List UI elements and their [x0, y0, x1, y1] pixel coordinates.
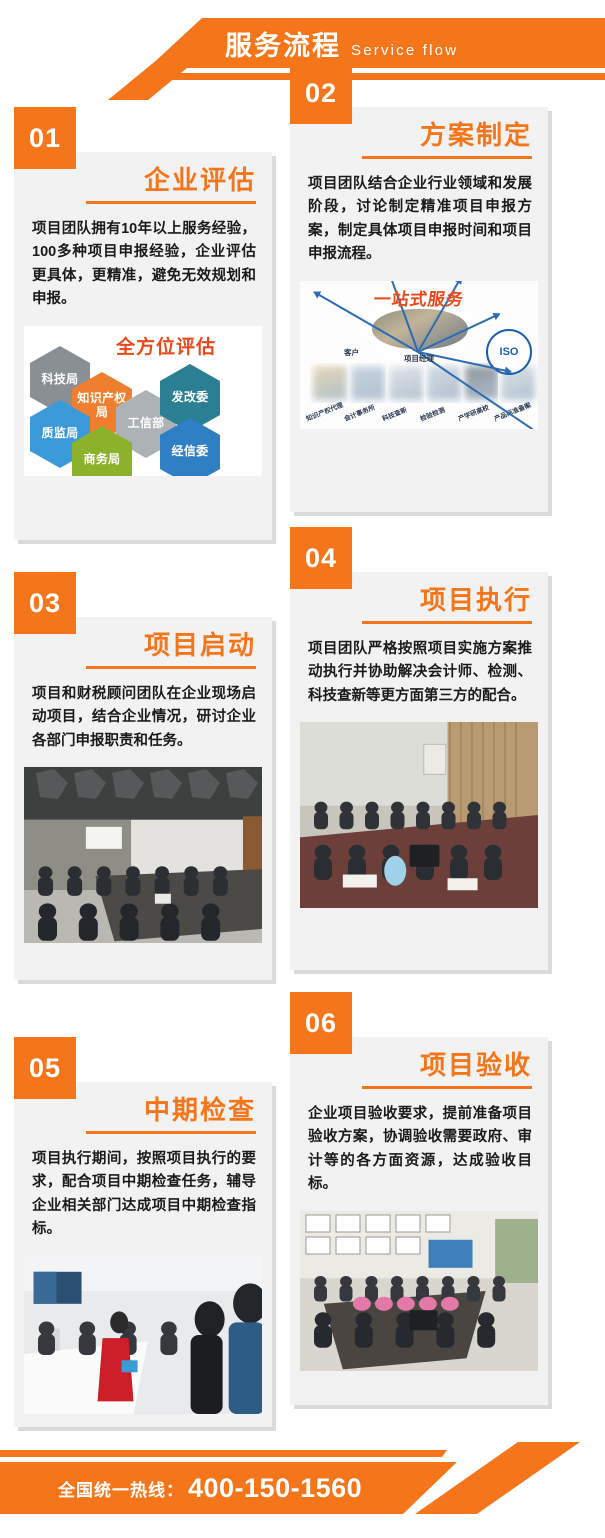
process-card-03[interactable]: 03项目启动项目和财税顾问团队在企业现场启动项目，结合企业情况，研讨企业各部门申… [14, 617, 272, 980]
one-stop-hub-label: 项目经理 [404, 353, 434, 364]
card-body-text: 项目团队拥有10年以上服务经验，100多种项目申报经验，企业评估更具体，更精准，… [14, 204, 272, 326]
card-number-badge: 02 [290, 62, 352, 124]
card-body-text: 项目团队结合企业行业领域和发展阶段，讨论制定精准项目申报方案，制定具体项目申报时… [290, 159, 548, 281]
one-stop-hub-photo [372, 309, 468, 349]
hex-node-label: 商务局 [84, 453, 121, 467]
one-stop-service-node [386, 363, 426, 403]
hotline-number[interactable]: 400-150-1560 [188, 1473, 362, 1504]
process-card-05[interactable]: 05中期检查项目执行期间，按照项目执行的要求，配合项目中期检查任务，辅导企业相关… [14, 1082, 272, 1427]
card-body-text: 企业项目验收要求，提前准备项目验收方案，协调验收需要政府、审计等的各方面资源，达… [290, 1089, 548, 1211]
card-photo [300, 1211, 538, 1371]
one-stop-service-node [348, 363, 388, 403]
one-stop-service-label: 科技查新 [380, 404, 408, 423]
card-media: 一站式服务客户项目经理知识产权代理会计事务所科技查新检验检测产学研高校产品标准备… [290, 281, 548, 441]
one-stop-title: 一站式服务 [372, 285, 466, 310]
one-stop-service-diagram: 一站式服务客户项目经理知识产权代理会计事务所科技查新检验检测产学研高校产品标准备… [300, 281, 538, 429]
process-card-02[interactable]: 02方案制定项目团队结合企业行业领域和发展阶段，讨论制定精准项目申报方案，制定具… [290, 107, 548, 512]
card-number-badge: 01 [14, 107, 76, 169]
card-media [290, 722, 548, 920]
page-footer: 全国统一热线： 400-150-1560 [0, 1420, 605, 1538]
card-media [14, 1256, 272, 1426]
page-title-cn: 服务流程 [225, 24, 341, 63]
one-stop-service-node [310, 363, 350, 403]
card-body-text: 项目团队严格按照项目实施方案推动执行并协助解决会计师、检测、科技查新等更方面第三… [290, 624, 548, 722]
card-number-badge: 05 [14, 1037, 76, 1099]
hex-node-label: 科技局 [42, 373, 79, 387]
card-body-text: 项目和财税顾问团队在企业现场启动项目，结合企业情况，研讨企业各部门申报职责和任务… [14, 669, 272, 767]
card-body-text: 项目执行期间，按照项目执行的要求，配合项目中期检查任务，辅导企业相关部门达成项目… [14, 1134, 272, 1256]
one-stop-hub-label: 客户 [344, 347, 359, 358]
card-number-badge: 06 [290, 992, 352, 1054]
hotline-label: 全国统一热线： [58, 1476, 184, 1501]
process-card-01[interactable]: 01企业评估项目团队拥有10年以上服务经验，100多种项目申报经验，企业评估更具… [14, 152, 272, 540]
hex-node-label: 发改委 [172, 391, 209, 405]
page-title: 服务流程 Service flow [225, 24, 458, 64]
card-photo [24, 1256, 262, 1414]
assessment-hex-diagram: 全方位评估科技局知识产权局质监局工信部发改委商务局经信委 [24, 326, 262, 476]
hotline: 全国统一热线： 400-150-1560 [58, 1462, 362, 1514]
card-media [14, 767, 272, 955]
process-card-06[interactable]: 06项目验收企业项目验收要求，提前准备项目验收方案，协调验收需要政府、审计等的各… [290, 1037, 548, 1405]
hex-node-label: 工信部 [128, 417, 165, 431]
one-stop-service-label: 产学研高校 [456, 401, 490, 422]
process-card-04[interactable]: 04项目执行项目团队严格按照项目实施方案推动执行并协助解决会计师、检测、科技查新… [290, 572, 548, 970]
card-photo [300, 722, 538, 908]
hex-node-label: 经信委 [172, 445, 209, 459]
page-title-en: Service flow [351, 42, 458, 59]
card-media [290, 1211, 548, 1383]
card-photo [24, 767, 262, 943]
one-stop-service-label: 会计事务所 [342, 401, 376, 422]
card-number-badge: 03 [14, 572, 76, 634]
hex-diagram-title: 全方位评估 [116, 332, 216, 359]
card-number-badge: 04 [290, 527, 352, 589]
hex-node-label: 质监局 [42, 427, 79, 441]
one-stop-service-label: 检验检测 [418, 404, 446, 423]
card-media: 全方位评估科技局知识产权局质监局工信部发改委商务局经信委 [14, 326, 272, 488]
